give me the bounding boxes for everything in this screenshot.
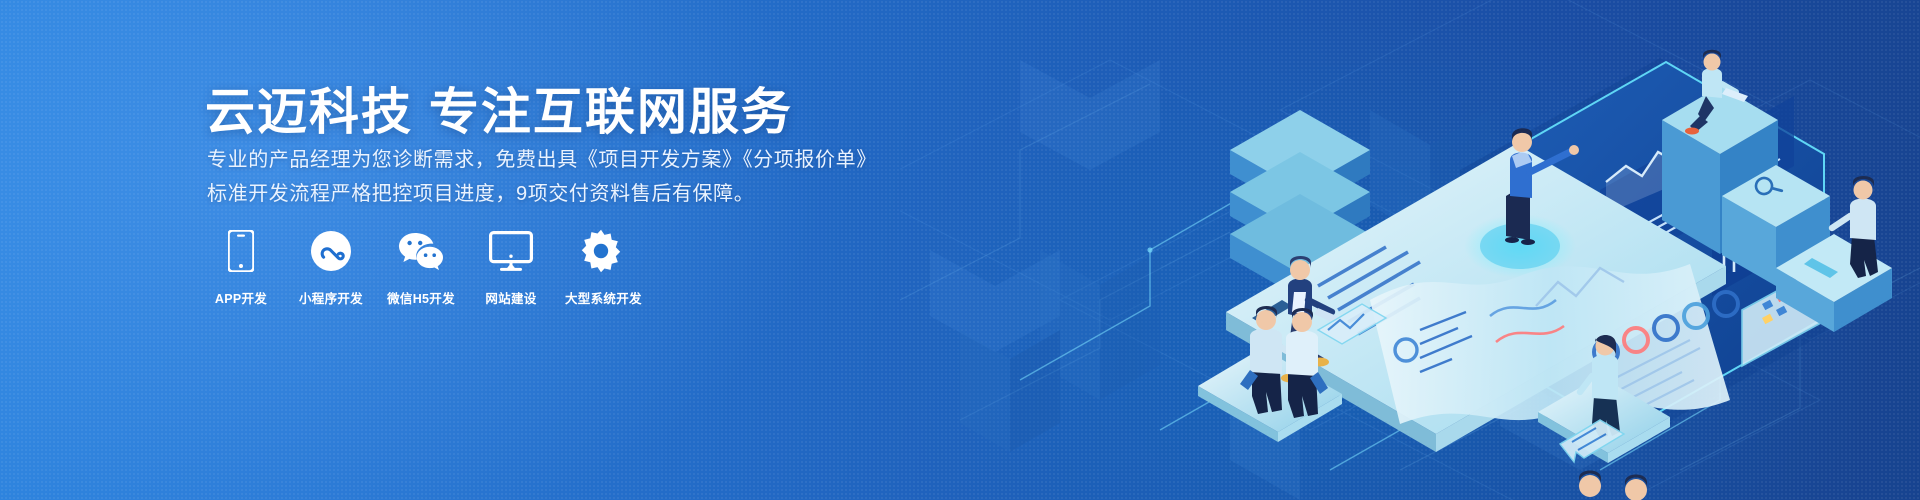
service-item-system[interactable]: 大型系统开发	[565, 228, 637, 307]
service-item-miniprogram[interactable]: 小程序开发	[295, 228, 367, 307]
subtitle-line-2: 标准开发流程严格把控项目进度，9项交付资料售后有保障。	[207, 177, 907, 211]
hero-illustration	[900, 0, 1920, 500]
hero-banner: 云迈科技 专注互联网服务 专业的产品经理为您诊断需求，免费出具《项目开发方案》《…	[0, 0, 1920, 500]
wechat-icon[interactable]	[385, 228, 457, 274]
banner-title: 云迈科技 专注互联网服务	[205, 72, 793, 144]
monitor-icon[interactable]	[475, 228, 547, 274]
service-label-website: 网站建设	[475, 288, 547, 307]
service-item-website[interactable]: 网站建设	[475, 228, 547, 307]
service-label-app: APP开发	[205, 288, 277, 307]
banner-content: 云迈科技 专注互联网服务 专业的产品经理为您诊断需求，免费出具《项目开发方案》《…	[205, 0, 965, 500]
service-item-wechat[interactable]: 微信H5开发	[385, 228, 457, 307]
banner-subtitle: 专业的产品经理为您诊断需求，免费出具《项目开发方案》《分项报价单》 标准开发流程…	[207, 143, 907, 211]
service-icon-row: APP开发 小程序开发	[205, 228, 655, 307]
mobile-phone-icon[interactable]	[205, 228, 277, 274]
mini-program-icon[interactable]	[295, 228, 367, 274]
service-item-app[interactable]: APP开发	[205, 228, 277, 307]
gear-icon[interactable]	[565, 228, 637, 274]
service-label-wechat: 微信H5开发	[385, 288, 457, 307]
service-label-miniprogram: 小程序开发	[295, 288, 367, 307]
service-label-system: 大型系统开发	[565, 288, 637, 307]
subtitle-line-1: 专业的产品经理为您诊断需求，免费出具《项目开发方案》《分项报价单》	[207, 143, 907, 177]
